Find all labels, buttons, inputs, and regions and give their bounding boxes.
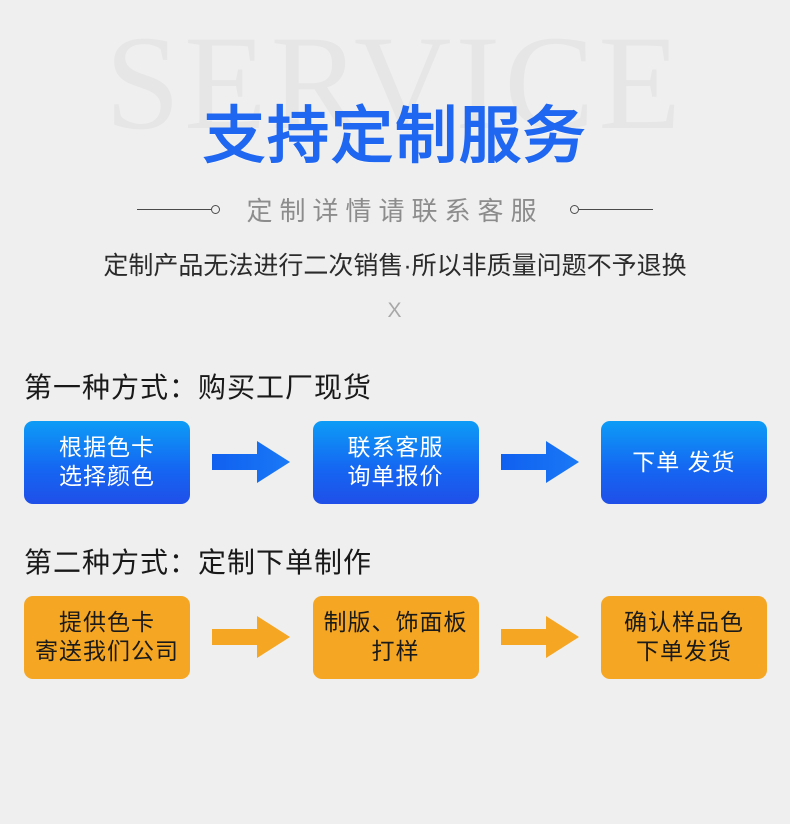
page-title: 支持定制服务: [0, 104, 790, 171]
flow-step-line2: 寄送我们公司: [35, 637, 179, 667]
flow-row-orange: 提供色卡 寄送我们公司 制版、饰面板 打样 确认样品色 下单发货: [24, 596, 767, 679]
flow-row-blue: 根据色卡 选择颜色 联系客服 询单报价: [24, 421, 767, 504]
flow-step-orange-2[interactable]: 制版、饰面板 打样: [313, 596, 479, 679]
subtitle-text: 定制详情请联系客服: [220, 191, 569, 228]
flow-step-line1: 根据色卡: [59, 433, 155, 463]
arrow-right-icon: [501, 616, 579, 658]
flow-step-blue-2[interactable]: 联系客服 询单报价: [313, 421, 479, 504]
x-mark: X: [0, 299, 790, 323]
flow-section-second-method: 第二种方式：定制下单制作 提供色卡 寄送我们公司 制版、饰面板 打样: [0, 541, 790, 679]
divider-line-left: [137, 209, 211, 210]
flow-step-line1: 确认样品色: [624, 608, 744, 638]
flow-step-blue-3[interactable]: 下单 发货: [601, 421, 767, 504]
flow-step-line1: 联系客服: [348, 433, 444, 463]
arrow-right-icon: [501, 441, 579, 483]
divider-dot-right-icon: [570, 205, 579, 214]
flow-step-line2: 下单发货: [636, 637, 732, 667]
service-promo-page: SERVICE 支持定制服务 定制详情请联系客服 定制产品无法进行二次销售·所以…: [0, 0, 790, 824]
flow-step-line2: 打样: [372, 637, 420, 667]
hero-section: 支持定制服务 定制详情请联系客服 定制产品无法进行二次销售·所以非质量问题不予退…: [0, 0, 790, 323]
section-heading-second: 第二种方式：定制下单制作: [24, 541, 767, 581]
arrow-right-icon: [212, 441, 290, 483]
flow-step-line2: 选择颜色: [59, 462, 155, 492]
divider-dot-left-icon: [211, 205, 220, 214]
arrow-right-icon: [212, 616, 290, 658]
flow-step-line2: 询单报价: [348, 462, 444, 492]
section-heading-first: 第一种方式：购买工厂现货: [24, 366, 767, 406]
subtitle-divider: 定制详情请联系客服: [0, 191, 790, 228]
flow-step-orange-1[interactable]: 提供色卡 寄送我们公司: [24, 596, 190, 679]
flow-section-first-method: 第一种方式：购买工厂现货 根据色卡 选择颜色 联系: [0, 366, 790, 504]
flow-step-line1: 下单 发货: [632, 448, 735, 478]
flow-step-line1: 提供色卡: [59, 608, 155, 638]
policy-note: 定制产品无法进行二次销售·所以非质量问题不予退换: [0, 246, 790, 282]
flow-step-line1: 制版、饰面板: [324, 608, 468, 638]
flow-step-blue-1[interactable]: 根据色卡 选择颜色: [24, 421, 190, 504]
divider-line-right: [579, 209, 653, 210]
flow-step-orange-3[interactable]: 确认样品色 下单发货: [601, 596, 767, 679]
